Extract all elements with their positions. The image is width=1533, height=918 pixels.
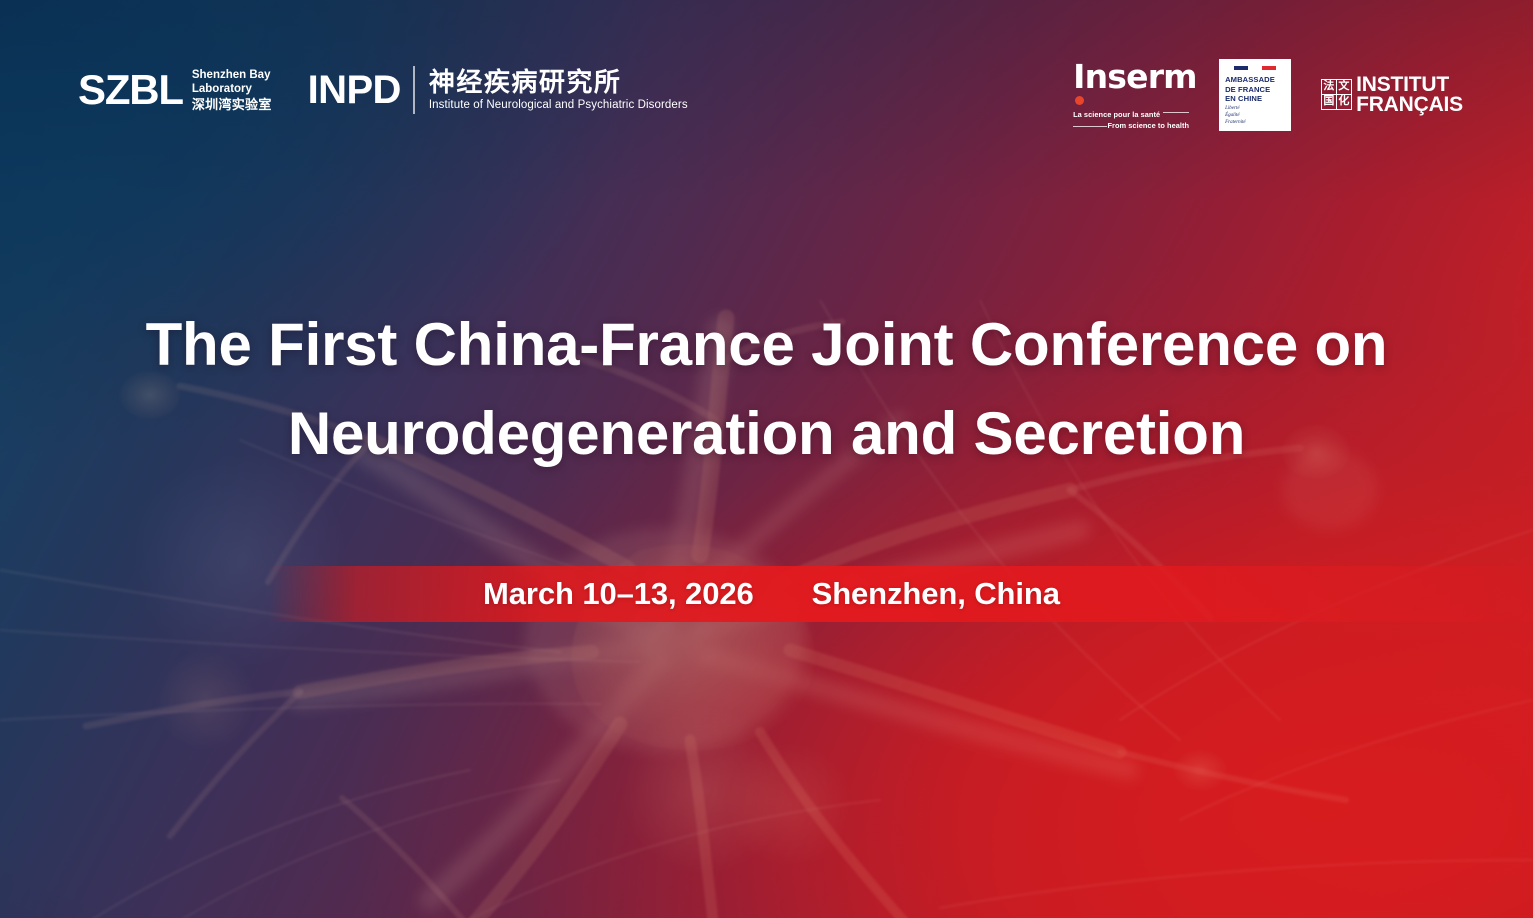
szbl-logo: SZBL Shenzhen Bay Laboratory 深圳湾实验室: [78, 67, 272, 113]
inpd-name-en: Institute of Neurological and Psychiatri…: [429, 99, 688, 111]
inserm-rule-bottom: [1073, 126, 1107, 127]
conference-poster: SZBL Shenzhen Bay Laboratory 深圳湾实验室 INPD…: [0, 0, 1533, 918]
inserm-dot-icon: [1075, 96, 1084, 105]
ambassade-name-line1: AMBASSADE: [1225, 75, 1287, 84]
title-line-1: The First China-France Joint Conference …: [60, 300, 1473, 389]
szbl-wordmark: SZBL: [78, 69, 183, 111]
ambassade-name: AMBASSADE DE FRANCE EN CHINE: [1223, 75, 1287, 103]
institut-francais-wordmark: INSTITUT FRANÇAIS: [1356, 75, 1463, 115]
szbl-name-en-line2: Laboratory: [192, 82, 272, 96]
inserm-rule-top: [1163, 112, 1189, 113]
szbl-name-cn: 深圳湾实验室: [192, 97, 272, 113]
inpd-name-block: 神经疾病研究所 Institute of Neurological and Ps…: [429, 69, 688, 112]
french-flag-icon: [1234, 66, 1276, 70]
institut-francais-logo: 法 文 国 化 INSTITUT FRANÇAIS: [1321, 75, 1463, 115]
if-grid-char-4: 化: [1337, 95, 1352, 110]
ambassade-de-france-logo: AMBASSADE DE FRANCE EN CHINE Liberté Éga…: [1219, 59, 1291, 131]
institut-francais-character-grid-icon: 法 文 国 化: [1321, 79, 1352, 110]
institut-francais-line2: FRANÇAIS: [1356, 95, 1463, 115]
conference-date: March 10–13, 2026: [483, 576, 754, 612]
ambassade-motto-line3: Fraternité: [1225, 120, 1287, 127]
inserm-tagline: La science pour la santé From science to…: [1073, 110, 1189, 131]
logo-bar: SZBL Shenzhen Bay Laboratory 深圳湾实验室 INPD…: [0, 0, 1533, 160]
if-grid-char-1: 法: [1322, 80, 1337, 95]
ambassade-name-line2: DE FRANCE: [1225, 85, 1287, 94]
inpd-wordmark: INPD: [308, 70, 401, 110]
szbl-name-block: Shenzhen Bay Laboratory 深圳湾实验室: [192, 67, 272, 113]
ambassade-name-line3: EN CHINE: [1225, 94, 1287, 103]
ambassade-motto: Liberté Égalité Fraternité: [1223, 106, 1287, 126]
conference-location: Shenzhen, China: [812, 576, 1060, 612]
inpd-logo: INPD 神经疾病研究所 Institute of Neurological a…: [308, 66, 688, 114]
szbl-name-en-line1: Shenzhen Bay: [192, 68, 272, 82]
if-grid-char-2: 文: [1337, 80, 1352, 95]
date-location-content: March 10–13, 2026 Shenzhen, China: [268, 566, 1533, 622]
title-line-2: Neurodegeneration and Secretion: [60, 389, 1473, 478]
logo-group-left: SZBL Shenzhen Bay Laboratory 深圳湾实验室 INPD…: [78, 66, 688, 114]
ambassade-motto-line2: Égalité: [1225, 113, 1287, 120]
inpd-vertical-rule: [413, 66, 415, 114]
inpd-name-cn: 神经疾病研究所: [429, 69, 688, 97]
institut-francais-line1: INSTITUT: [1356, 75, 1463, 95]
logo-group-right: Inserm La science pour la santé From sci…: [1073, 58, 1463, 131]
inserm-logo: Inserm La science pour la santé From sci…: [1073, 58, 1189, 131]
conference-title: The First China-France Joint Conference …: [0, 300, 1533, 479]
if-grid-char-3: 国: [1322, 95, 1337, 110]
inserm-wordmark: Inserm: [1073, 60, 1189, 93]
